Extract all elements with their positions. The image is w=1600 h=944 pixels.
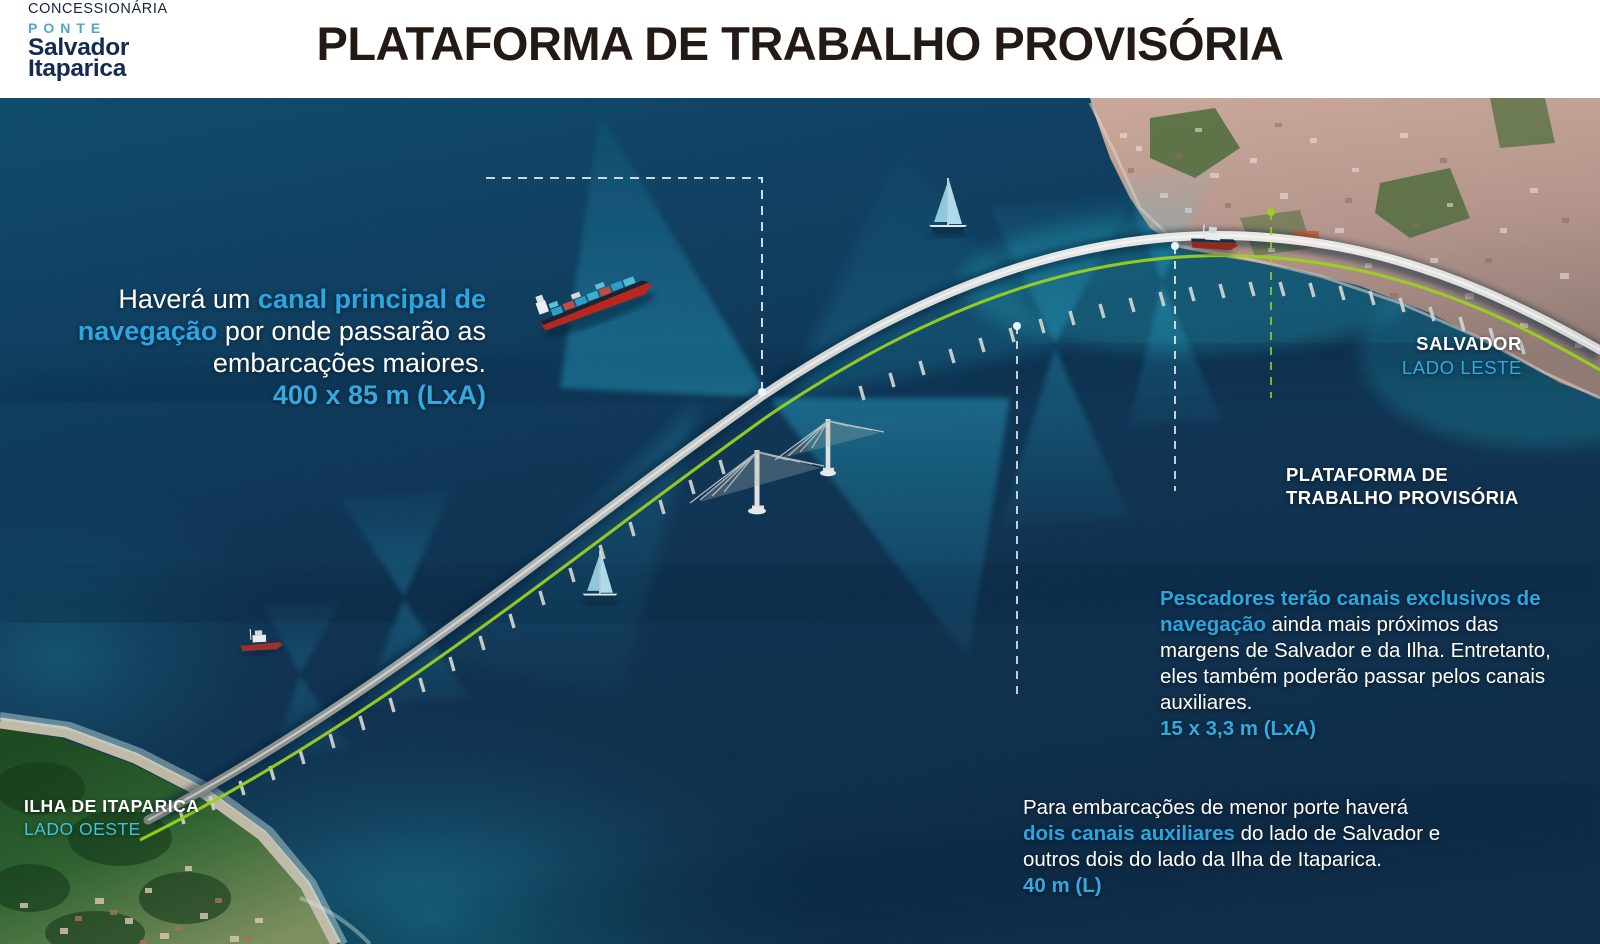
callout-fishermen: Pescadores terão canais exclusivos de na… xyxy=(1160,586,1560,742)
itaparica-side: LADO OESTE xyxy=(24,819,199,840)
page-title: PLATAFORMA DE TRABALHO PROVISÓRIA xyxy=(0,16,1600,71)
fishermen-dimension: 15 x 3,3 m (LxA) xyxy=(1160,716,1560,742)
callout-main-channel: Haverá um canal principal de navegação p… xyxy=(26,284,486,411)
label-itaparica: ILHA DE ITAPARICA LADO OESTE xyxy=(24,796,199,840)
platform-line-2: TRABALHO PROVISÓRIA xyxy=(1286,486,1519,509)
main-channel-text-before: Haverá um xyxy=(118,284,258,314)
aerial-map-scene: Haverá um canal principal de navegação p… xyxy=(0,98,1600,944)
header-bar: CONCESSIONÁRIA PONTE Salvador Itaparica … xyxy=(0,0,1600,98)
label-salvador: SALVADOR LADO LESTE xyxy=(1402,333,1522,379)
itaparica-name: ILHA DE ITAPARICA xyxy=(24,796,199,817)
auxiliary-highlight: dois canais auxiliares xyxy=(1023,822,1235,845)
label-platform: PLATAFORMA DE TRABALHO PROVISÓRIA xyxy=(1286,463,1519,509)
logo-line-concessionaria: CONCESSIONÁRIA xyxy=(28,2,168,17)
infographic-page: CONCESSIONÁRIA PONTE Salvador Itaparica … xyxy=(0,0,1600,944)
platform-line-1: PLATAFORMA DE xyxy=(1286,463,1519,486)
callout-auxiliary: Para embarcações de menor porte haverá d… xyxy=(1023,795,1453,899)
auxiliary-text-before: Para embarcações de menor porte haverá xyxy=(1023,796,1408,819)
salvador-side: LADO LESTE xyxy=(1402,357,1522,379)
main-channel-dimension: 400 x 85 m (LxA) xyxy=(26,380,486,412)
auxiliary-dimension: 40 m (L) xyxy=(1023,873,1453,899)
salvador-name: SALVADOR xyxy=(1402,333,1522,355)
main-channel-text-after: por onde passarão as embarcações maiores… xyxy=(213,316,486,378)
